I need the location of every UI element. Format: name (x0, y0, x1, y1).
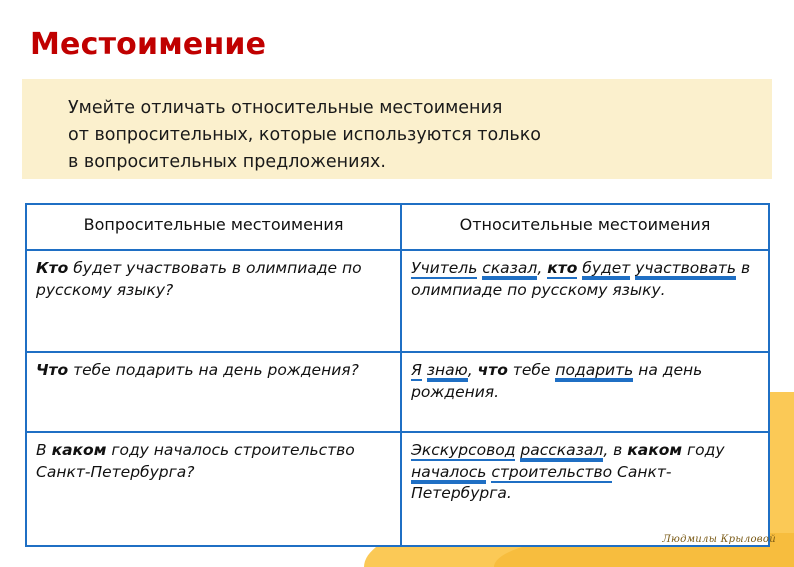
pronoun-highlight: что (478, 361, 508, 379)
question-text: будет участвовать в олимпиаде по русском… (36, 259, 362, 299)
subject-underline: Экскурсовод (411, 441, 515, 461)
comma-text: , (468, 361, 478, 379)
pronoun-highlight: Что (36, 361, 68, 379)
cell-question-1: Кто будет участвовать в олимпиаде по рус… (26, 250, 401, 352)
page-title: Местоимение (30, 27, 266, 62)
subject-underline: Учитель (411, 259, 477, 279)
predicate-underline: сказал (482, 259, 537, 280)
column-header-interrogative: Вопросительные местоимения (26, 204, 401, 250)
mid-text: году (682, 441, 724, 459)
pronoun-highlight: каком (52, 441, 107, 459)
comma-text: , в (603, 441, 627, 459)
cell-answer-3: Экскурсовод рассказал, в каком году нача… (401, 432, 769, 546)
column-header-relative: Относительные местоимения (401, 204, 769, 250)
pronoun-highlight: кто (547, 259, 577, 279)
auxiliary-underline: будет (582, 259, 630, 280)
slide-root: Местоимение Умейте отличать относительны… (0, 0, 794, 567)
predicate-underline: знаю (427, 361, 468, 382)
subject-underline: Я (411, 361, 422, 381)
predicate-underline: рассказал (520, 441, 603, 462)
cell-answer-1: Учитель сказал, кто будет участвовать в … (401, 250, 769, 352)
cell-question-3: В каком году началось строительство Санк… (26, 432, 401, 546)
cell-question-2: Что тебе подарить на день рождения? (26, 352, 401, 432)
pronoun-highlight: Кто (36, 259, 68, 277)
author-watermark: Людмилы Крыловой (662, 534, 776, 545)
predicate-underline: подарить (555, 361, 633, 382)
pronoun-highlight: каком (627, 441, 682, 459)
predicate-underline: началось (411, 463, 486, 484)
intro-text: Умейте отличать относительные местоимени… (68, 95, 718, 176)
subject-underline: строительство (491, 463, 612, 483)
table-row: Кто будет участвовать в олимпиаде по рус… (26, 250, 769, 352)
question-lead-text: В (36, 441, 52, 459)
table-row: Что тебе подарить на день рождения? Я зн… (26, 352, 769, 432)
table-row: В каком году началось строительство Санк… (26, 432, 769, 546)
mid-text: тебе (508, 361, 556, 379)
pronouns-comparison-table: Вопросительные местоимения Относительные… (25, 203, 770, 547)
cell-answer-2: Я знаю, что тебе подарить на день рожден… (401, 352, 769, 432)
predicate-underline: участвовать (635, 259, 736, 280)
question-text: тебе подарить на день рождения? (68, 361, 359, 379)
intro-callout-box: Умейте отличать относительные местоимени… (22, 79, 772, 179)
comma-text: , (537, 259, 547, 277)
table-header-row: Вопросительные местоимения Относительные… (26, 204, 769, 250)
